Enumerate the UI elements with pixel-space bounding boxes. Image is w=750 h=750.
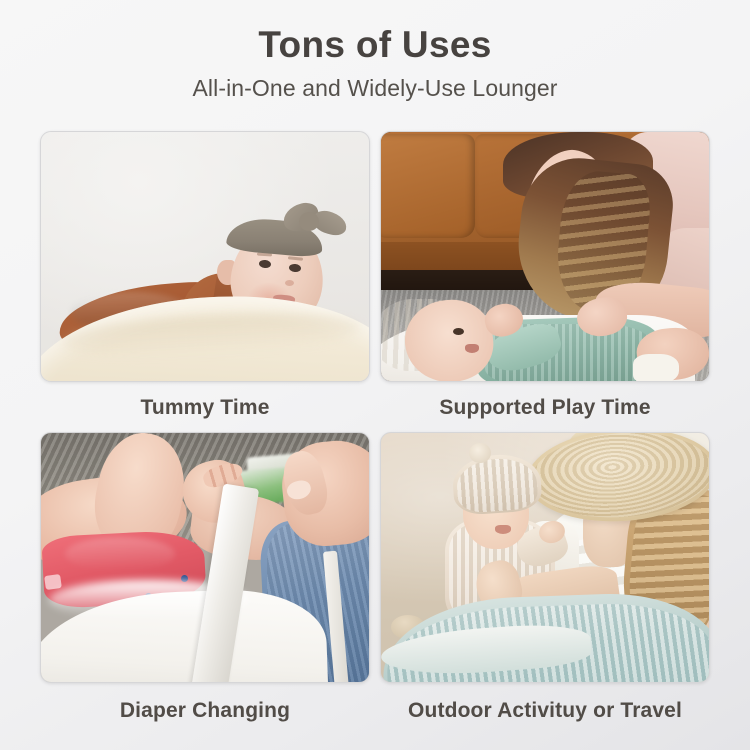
use-case-card-supported-play-time: Supported Play Time [380, 131, 710, 430]
use-case-caption: Tummy Time [40, 382, 370, 430]
use-case-caption: Outdoor Activituy or Travel [380, 683, 710, 733]
baby-eye [453, 328, 464, 335]
photo-diaper-changing [40, 432, 370, 683]
cloth-diaper-highlight [65, 537, 175, 571]
baby-mouth [465, 344, 479, 353]
diaper-tab [44, 574, 62, 590]
headband-bow-knot [299, 212, 319, 231]
page-title: Tons of Uses [0, 24, 750, 65]
infographic-header: Tons of Uses All-in-One and Widely-Use L… [0, 0, 750, 102]
couch-cushion-left [380, 134, 475, 238]
use-case-card-outdoor-travel: Outdoor Activituy or Travel [380, 432, 710, 733]
baby-beanie-pompom [469, 443, 491, 463]
photo-supported-play-time [380, 131, 710, 382]
photo-tummy-time [40, 131, 370, 382]
page-subtitle: All-in-One and Widely-Use Lounger [0, 75, 750, 102]
baby-mouth [495, 525, 511, 534]
baby-diaper [633, 354, 679, 382]
use-case-card-tummy-time: Tummy Time [40, 131, 370, 430]
use-case-caption: Diaper Changing [40, 683, 370, 733]
baby-nose [285, 280, 294, 286]
use-case-caption: Supported Play Time [380, 382, 710, 430]
use-case-card-diaper-changing: Diaper Changing [40, 432, 370, 733]
photo-outdoor-travel [380, 432, 710, 683]
use-case-grid: Tummy Time [40, 131, 710, 733]
